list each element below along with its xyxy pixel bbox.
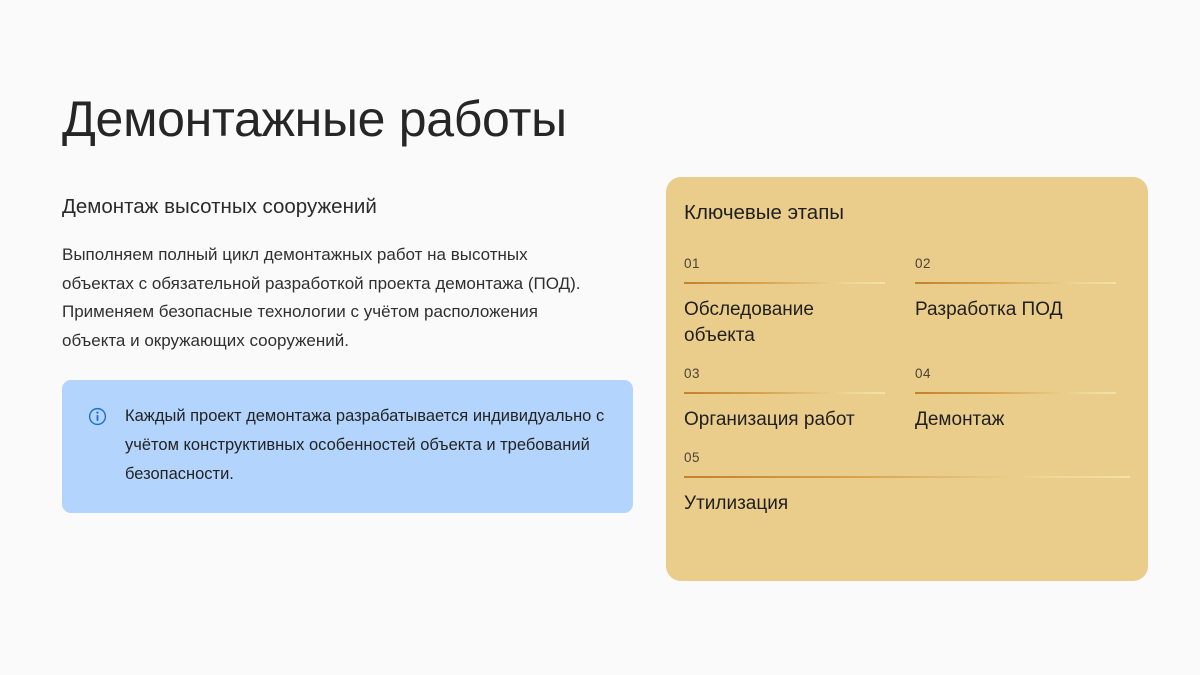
stage-item: 01 Обследование объекта xyxy=(684,245,885,355)
stage-title: Демонтаж xyxy=(915,407,1116,433)
stage-divider xyxy=(684,392,885,394)
page-title: Демонтажные работы xyxy=(62,88,567,150)
info-callout: Каждый проект демонтажа разрабатывается … xyxy=(62,380,633,513)
key-stages-grid: 01 Обследование объекта 02 Разработка ПО… xyxy=(684,245,1130,523)
stage-number: 01 xyxy=(684,255,885,273)
stage-item: 02 Разработка ПОД xyxy=(915,245,1116,355)
stage-item: 04 Демонтаж xyxy=(915,355,1116,439)
stage-title: Утилизация xyxy=(684,491,1130,517)
stage-number: 04 xyxy=(915,365,1116,383)
stage-number: 03 xyxy=(684,365,885,383)
stage-divider xyxy=(915,282,1116,284)
info-callout-text: Каждый проект демонтажа разрабатывается … xyxy=(125,402,607,489)
stage-item: 05 Утилизация xyxy=(684,439,1130,523)
stage-title: Разработка ПОД xyxy=(915,297,1116,323)
body-paragraph: Выполняем полный цикл демонтажных работ … xyxy=(62,241,602,355)
stage-divider xyxy=(684,476,1130,478)
stage-title: Обследование объекта xyxy=(684,297,885,349)
stage-item: 03 Организация работ xyxy=(684,355,885,439)
section-subtitle: Демонтаж высотных сооружений xyxy=(62,193,637,221)
key-stages-card: Ключевые этапы 01 Обследование объекта 0… xyxy=(666,177,1148,581)
left-content-column: Демонтаж высотных сооружений Выполняем п… xyxy=(62,193,637,355)
key-stages-heading: Ключевые этапы xyxy=(684,199,1130,227)
info-circle-icon xyxy=(88,407,107,426)
stage-divider xyxy=(915,392,1116,394)
stage-number: 05 xyxy=(684,449,1130,467)
stage-title: Организация работ xyxy=(684,407,885,433)
stage-divider xyxy=(684,282,885,284)
stage-number: 02 xyxy=(915,255,1116,273)
slide-root: Демонтажные работы Демонтаж высотных соо… xyxy=(0,0,1200,675)
